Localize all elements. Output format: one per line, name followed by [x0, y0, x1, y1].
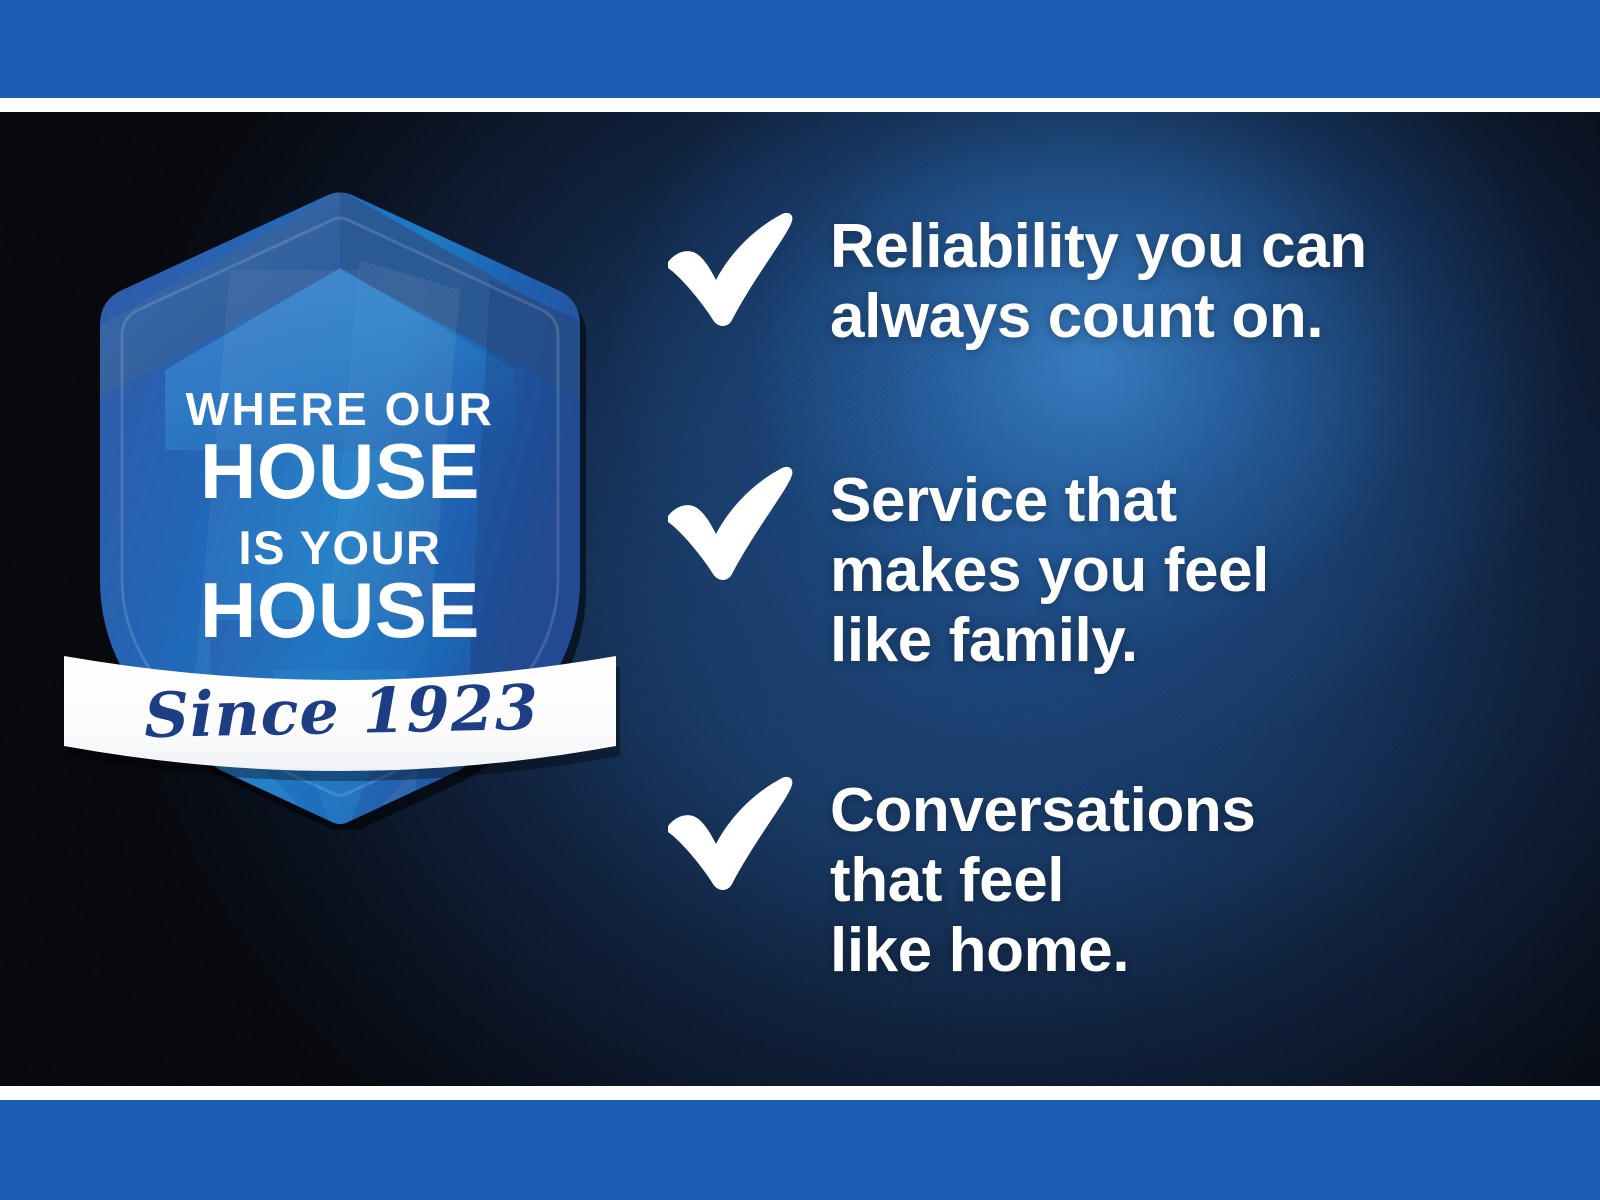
checkmark-icon — [660, 464, 800, 584]
badge-tagline-line2: HOUSE — [200, 427, 480, 515]
list-item: Reliability you can always count on. — [660, 210, 1540, 352]
badge-tagline-line4: HOUSE — [200, 566, 480, 654]
bottom-brand-bar — [0, 1100, 1600, 1200]
list-item-text: Reliability you can always count on. — [830, 212, 1540, 352]
benefits-list: Reliability you can always count on. Ser… — [660, 112, 1540, 1088]
list-item: Conversations that feel like home. — [660, 774, 1540, 986]
bottom-divider-line — [0, 1086, 1600, 1100]
list-item: Service that makes you feel like family. — [660, 464, 1540, 676]
list-item-text: Service that makes you feel like family. — [830, 466, 1540, 676]
list-item-text: Conversations that feel like home. — [830, 776, 1540, 986]
promotional-graphic: WHERE OUR HOUSE IS YOUR HOUSE Since 1923… — [0, 0, 1600, 1200]
top-brand-bar — [0, 0, 1600, 98]
checkmark-icon — [660, 210, 800, 330]
company-shield-badge: WHERE OUR HOUSE IS YOUR HOUSE Since 1923 — [60, 150, 620, 830]
top-divider-line — [0, 98, 1600, 112]
badge-ribbon-text: Since 1923 — [143, 671, 539, 752]
checkmark-icon — [660, 774, 800, 894]
